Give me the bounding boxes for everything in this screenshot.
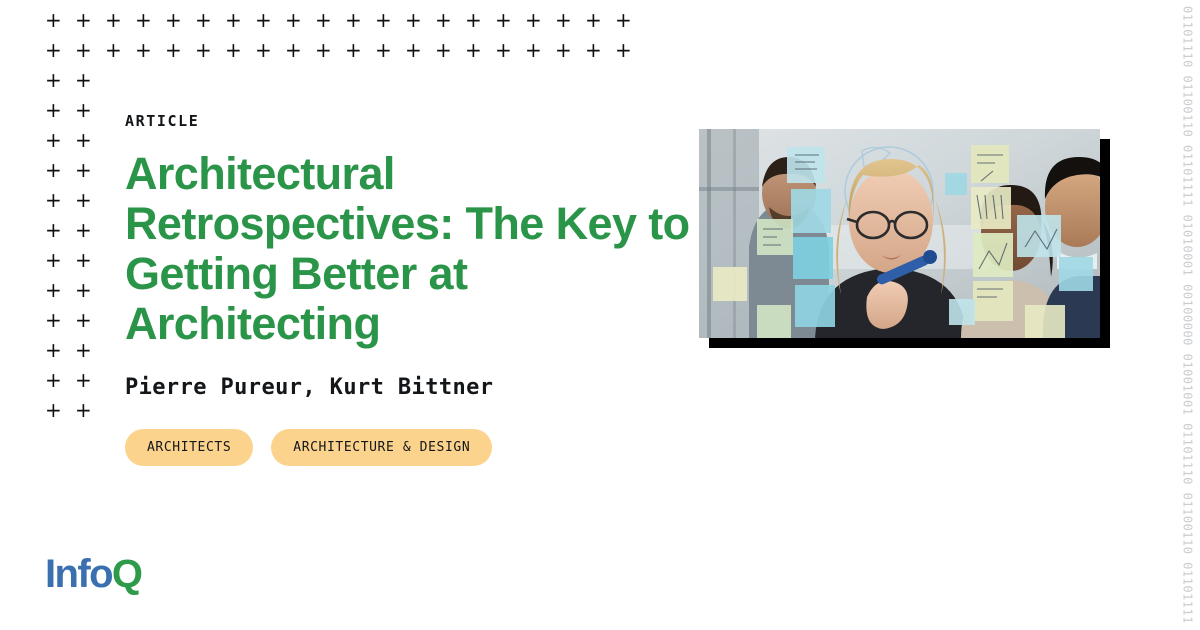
plus-marker: +: [555, 42, 571, 58]
plus-marker: +: [585, 12, 601, 28]
tag-list: ARCHITECTS ARCHITECTURE & DESIGN: [125, 429, 695, 466]
plus-marker: +: [345, 12, 361, 28]
plus-marker: +: [615, 12, 631, 28]
plus-marker: +: [45, 222, 61, 238]
plus-marker: +: [405, 12, 421, 28]
plus-marker: +: [255, 42, 271, 58]
plus-marker: +: [315, 12, 331, 28]
plus-marker: +: [75, 192, 91, 208]
plus-marker: +: [375, 42, 391, 58]
plus-marker: +: [75, 132, 91, 148]
tag-chip[interactable]: ARCHITECTURE & DESIGN: [271, 429, 492, 466]
plus-marker: +: [345, 42, 361, 58]
logo-text-q: Q: [112, 552, 142, 596]
plus-marker: +: [45, 42, 61, 58]
plus-marker: +: [75, 282, 91, 298]
plus-marker: +: [75, 42, 91, 58]
binary-decoration-text: 01001001 01101110 01100110 01101111 0101…: [1180, 0, 1194, 630]
plus-marker: +: [285, 12, 301, 28]
article-social-card: ++++++++++++++++++++++++++++++++++++++++…: [0, 0, 1200, 630]
plus-marker: +: [45, 72, 61, 88]
plus-marker: +: [405, 42, 421, 58]
author-byline: Pierre Pureur, Kurt Bittner: [125, 375, 695, 400]
plus-marker: +: [135, 12, 151, 28]
content-type-label: ARTICLE: [125, 112, 695, 130]
plus-marker: +: [225, 12, 241, 28]
plus-marker: +: [75, 312, 91, 328]
hero-image: [699, 129, 1100, 338]
plus-marker: +: [315, 42, 331, 58]
plus-marker: +: [75, 252, 91, 268]
plus-marker: +: [255, 12, 271, 28]
plus-marker: +: [165, 42, 181, 58]
plus-marker: +: [45, 402, 61, 418]
plus-marker: +: [225, 42, 241, 58]
plus-marker: +: [75, 162, 91, 178]
plus-marker: +: [525, 12, 541, 28]
plus-marker: +: [105, 12, 121, 28]
article-content: ARTICLE Architectural Retrospectives: Th…: [125, 112, 695, 466]
plus-marker: +: [285, 42, 301, 58]
plus-marker: +: [45, 132, 61, 148]
plus-marker: +: [45, 282, 61, 298]
plus-marker: +: [465, 42, 481, 58]
plus-marker: +: [585, 42, 601, 58]
binary-decoration-strip: 01001001 01101110 01100110 01101111 0101…: [1174, 0, 1200, 630]
plus-marker: +: [615, 42, 631, 58]
plus-marker: +: [135, 42, 151, 58]
plus-marker: +: [165, 12, 181, 28]
plus-marker: +: [75, 72, 91, 88]
plus-marker: +: [75, 222, 91, 238]
plus-marker: +: [75, 372, 91, 388]
plus-marker: +: [555, 12, 571, 28]
plus-marker: +: [45, 192, 61, 208]
plus-marker: +: [45, 252, 61, 268]
plus-marker: +: [45, 312, 61, 328]
plus-marker: +: [75, 12, 91, 28]
plus-marker: +: [435, 12, 451, 28]
plus-marker: +: [105, 42, 121, 58]
infoq-logo[interactable]: InfoQ: [45, 552, 141, 596]
plus-marker: +: [75, 402, 91, 418]
tag-chip[interactable]: ARCHITECTS: [125, 429, 253, 466]
plus-marker: +: [75, 342, 91, 358]
plus-marker: +: [435, 42, 451, 58]
plus-marker: +: [195, 42, 211, 58]
hero-image-container: [699, 129, 1100, 338]
plus-marker: +: [195, 12, 211, 28]
page-title: Architectural Retrospectives: The Key to…: [125, 149, 695, 349]
logo-text-info: Info: [45, 552, 112, 596]
plus-marker: +: [45, 102, 61, 118]
plus-marker: +: [45, 342, 61, 358]
plus-marker: +: [525, 42, 541, 58]
plus-marker: +: [495, 12, 511, 28]
plus-marker: +: [495, 42, 511, 58]
plus-marker: +: [45, 162, 61, 178]
plus-marker: +: [45, 372, 61, 388]
plus-marker: +: [45, 12, 61, 28]
plus-marker: +: [75, 102, 91, 118]
plus-marker: +: [465, 12, 481, 28]
plus-marker: +: [375, 12, 391, 28]
